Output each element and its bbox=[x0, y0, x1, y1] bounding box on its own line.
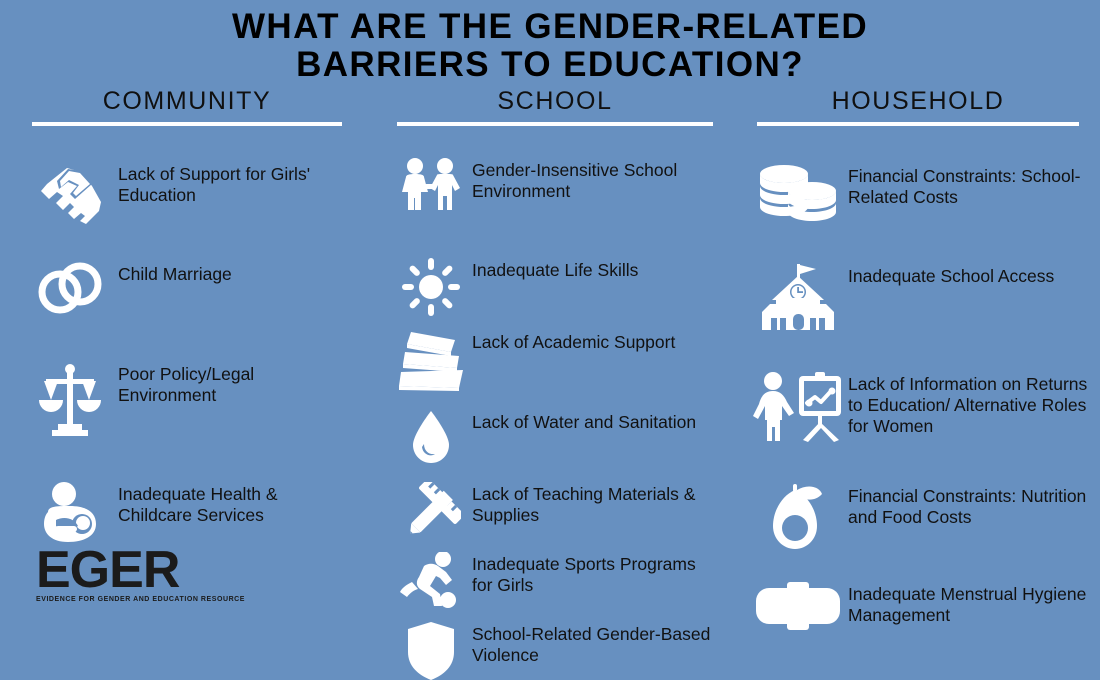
list-item[interactable]: Lack of Academic Support bbox=[390, 330, 720, 392]
shield-icon bbox=[390, 622, 472, 680]
water-drop-icon bbox=[390, 410, 472, 464]
list-item-label: Child Marriage bbox=[118, 262, 232, 285]
scales-of-justice-icon bbox=[22, 362, 118, 436]
list-item-label: Inadequate Health & Childcare Services bbox=[118, 482, 352, 526]
list-item-label: School-Related Gender-Based Violence bbox=[472, 622, 720, 666]
list-item-label: Inadequate Sports Programs for Girls bbox=[472, 552, 720, 596]
column-rule-community bbox=[32, 122, 342, 126]
soccer-player-icon bbox=[390, 552, 472, 608]
column-rule-household bbox=[757, 122, 1079, 126]
list-item[interactable]: Lack of Information on Returns to Educat… bbox=[748, 372, 1088, 442]
eger-wordmark: EGER bbox=[36, 545, 226, 595]
column-heading-community: COMMUNITY bbox=[22, 88, 352, 118]
avocado-icon bbox=[748, 484, 848, 550]
ruler-and-pencil-icon bbox=[390, 482, 472, 542]
list-item[interactable]: Inadequate Health & Childcare Services bbox=[22, 482, 352, 544]
column-community: COMMUNITY Lack of Support for Girls' Edu… bbox=[22, 88, 352, 134]
column-household: HOUSEHOLD Financial Constraints: School-… bbox=[748, 88, 1088, 134]
list-item-label: Inadequate Menstrual Hygiene Management bbox=[848, 582, 1088, 626]
coin-stacks-icon bbox=[748, 164, 848, 226]
list-item-label: Inadequate School Access bbox=[848, 264, 1054, 287]
list-item-label: Financial Constraints: School-Related Co… bbox=[848, 164, 1088, 208]
list-item[interactable]: Child Marriage bbox=[22, 262, 352, 314]
sanitary-pad-icon bbox=[748, 582, 848, 630]
column-rule-school bbox=[397, 122, 713, 126]
page-title-line2: BARRIERS TO EDUCATION? bbox=[0, 46, 1100, 84]
list-item-label: Financial Constraints: Nutrition and Foo… bbox=[848, 484, 1088, 528]
list-item[interactable]: Lack of Teaching Materials & Supplies bbox=[390, 482, 720, 542]
list-item[interactable]: Gender-Insensitive School Environment bbox=[390, 158, 720, 214]
list-item[interactable]: Financial Constraints: School-Related Co… bbox=[748, 164, 1088, 226]
list-item-label: Poor Policy/Legal Environment bbox=[118, 362, 352, 406]
list-item[interactable]: Inadequate School Access bbox=[748, 264, 1088, 330]
handshake-icon bbox=[22, 162, 118, 224]
woman-presenting-chart-icon bbox=[748, 372, 848, 442]
column-school: SCHOOL Gender-Insensitive School Environ… bbox=[390, 88, 720, 134]
column-heading-household: HOUSEHOLD bbox=[748, 88, 1088, 118]
sun-icon bbox=[390, 258, 472, 316]
list-item[interactable]: Inadequate Life Skills bbox=[390, 258, 720, 316]
list-item-label: Lack of Water and Sanitation bbox=[472, 410, 696, 433]
infographic-poster: WHAT ARE THE GENDER-RELATED BARRIERS TO … bbox=[0, 0, 1100, 628]
list-item-label: Lack of Teaching Materials & Supplies bbox=[472, 482, 720, 526]
list-item[interactable]: Financial Constraints: Nutrition and Foo… bbox=[748, 484, 1088, 550]
page-title: WHAT ARE THE GENDER-RELATED BARRIERS TO … bbox=[0, 8, 1100, 84]
list-item[interactable]: Lack of Water and Sanitation bbox=[390, 410, 720, 464]
page-title-line1: WHAT ARE THE GENDER-RELATED bbox=[232, 7, 868, 46]
column-heading-school: SCHOOL bbox=[390, 88, 720, 118]
list-item-label: Gender-Insensitive School Environment bbox=[472, 158, 720, 202]
list-item-label: Lack of Academic Support bbox=[472, 330, 675, 353]
list-item[interactable]: Lack of Support for Girls' Education bbox=[22, 162, 352, 224]
eger-logo: EGER EVIDENCE FOR GENDER AND EDUCATION R… bbox=[36, 545, 226, 603]
list-item[interactable]: Poor Policy/Legal Environment bbox=[22, 362, 352, 436]
list-item[interactable]: School-Related Gender-Based Violence bbox=[390, 622, 720, 680]
list-item-label: Lack of Support for Girls' Education bbox=[118, 162, 352, 206]
schoolhouse-icon bbox=[748, 264, 848, 330]
list-item[interactable]: Inadequate Menstrual Hygiene Management bbox=[748, 582, 1088, 630]
wedding-rings-icon bbox=[22, 262, 118, 314]
eger-tagline: EVIDENCE FOR GENDER AND EDUCATION RESOUR… bbox=[36, 596, 226, 603]
two-children-icon bbox=[390, 158, 472, 214]
list-item[interactable]: Inadequate Sports Programs for Girls bbox=[390, 552, 720, 608]
mother-and-child-icon bbox=[22, 482, 118, 544]
list-item-label: Lack of Information on Returns to Educat… bbox=[848, 372, 1088, 437]
stack-of-books-icon bbox=[390, 330, 472, 392]
list-item-label: Inadequate Life Skills bbox=[472, 258, 638, 281]
